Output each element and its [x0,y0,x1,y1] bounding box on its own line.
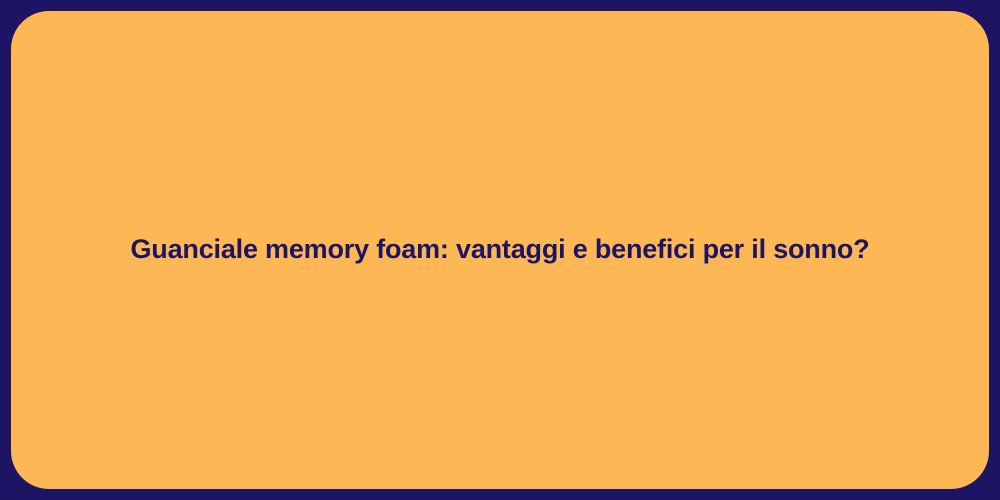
banner-frame: Guanciale memory foam: vantaggi e benefi… [0,0,1000,500]
headline-title: Guanciale memory foam: vantaggi e benefi… [131,233,870,267]
banner-card: Guanciale memory foam: vantaggi e benefi… [11,11,989,489]
